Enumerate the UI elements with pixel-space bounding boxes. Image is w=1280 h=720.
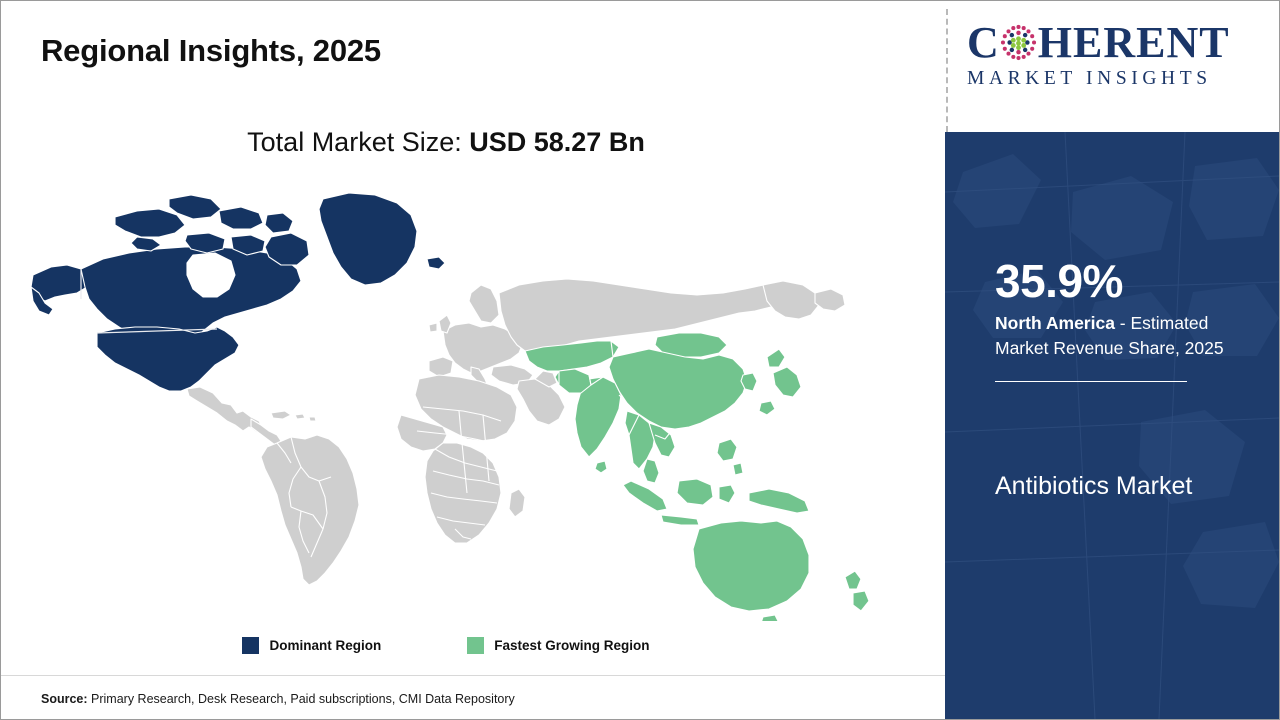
logo-wordmark: C [967,19,1259,66]
total-market-size-label: Total Market Size: [247,127,462,157]
hudson-bay [187,253,235,297]
legend-label-dominant: Dominant Region [269,638,381,653]
market-name: Antibiotics Market [995,469,1255,505]
legend-item-dominant: Dominant Region [242,637,381,654]
stat-caption: North America - Estimated Market Revenue… [995,311,1245,361]
coherent-market-insights-logo[interactable]: C [967,19,1259,90]
logo-area: C [945,1,1279,132]
source-divider [1,675,945,676]
main-panel: Regional Insights, 2025 Total Market Siz… [1,1,945,719]
sidebar-stat-panel: 35.9% North America - Estimated Market R… [945,132,1279,719]
world-map [19,181,909,621]
legend-item-fastest-growing: Fastest Growing Region [467,637,649,654]
legend-swatch-icon-fastest-growing [467,637,484,654]
sidebar-map-texture [945,132,1279,719]
stat-divider [995,381,1187,383]
regional-insights-infographic: Regional Insights, 2025 Total Market Siz… [0,0,1280,720]
sidebar: C [945,1,1279,719]
stat-block: 35.9% North America - Estimated Market R… [995,257,1245,382]
map-region-dominant [31,193,445,391]
legend-swatch-icon-dominant [242,637,259,654]
logo-subtitle: MARKET INSIGHTS [967,68,1259,90]
logo-letter-c: C [967,21,1000,65]
source-label: Source: [41,692,88,706]
sidebar-dashed-divider [946,9,948,132]
world-map-svg [19,181,909,621]
page-title: Regional Insights, 2025 [41,33,381,69]
legend-label-fastest-growing: Fastest Growing Region [494,638,649,653]
stat-value: 35.9% [995,257,1245,305]
total-market-size: Total Market Size: USD 58.27 Bn [1,127,891,158]
total-market-size-value: USD 58.27 Bn [469,127,645,157]
map-legend: Dominant Region Fastest Growing Region [1,637,891,654]
map-region-fastest-growing [525,333,869,621]
source-text: Primary Research, Desk Research, Paid su… [88,692,515,706]
stat-region: North America [995,313,1115,333]
logo-word-herent: HERENT [1038,21,1230,65]
globe-dots-icon [1000,24,1037,61]
source-note: Source: Primary Research, Desk Research,… [41,692,515,706]
